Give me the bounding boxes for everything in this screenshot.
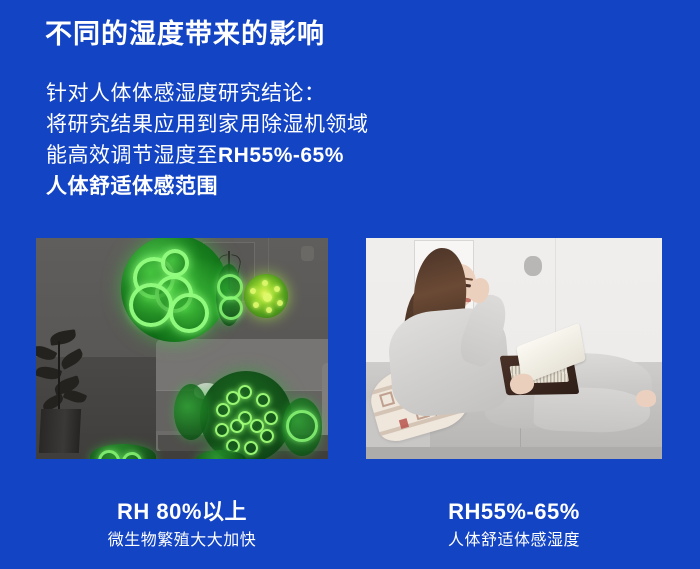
hanging-cord <box>268 238 269 272</box>
microbe-cluster-large <box>121 238 228 342</box>
slide-root: 不同的湿度带来的影响 针对人体体感湿度研究结论： 将研究结果应用到家用除湿机领域… <box>0 0 700 569</box>
microbe-dot <box>238 385 252 399</box>
microbe-sphere-small <box>244 274 288 318</box>
microbe-blob <box>161 249 189 277</box>
sofa-base-light <box>366 447 662 459</box>
microbe-ring <box>286 410 318 442</box>
photo-left-high-humidity <box>36 238 328 459</box>
microbe-dot <box>260 429 274 443</box>
plant-stem <box>58 341 60 417</box>
caption-right: RH55%-65% 人体舒适体感湿度 <box>366 498 662 551</box>
dark-room-scene <box>36 238 328 459</box>
microbe-blob <box>129 283 173 327</box>
microbe-spike <box>250 288 256 294</box>
plant-leaf <box>59 348 86 370</box>
microbe-dot <box>215 423 229 437</box>
body-line-3-text: 能高效调节湿度至 <box>46 144 218 167</box>
caption-left: RH 80%以上 微生物繁殖大大加快 <box>36 498 328 551</box>
microbe-spike <box>262 280 268 286</box>
microbe-partial-left-bottom <box>174 384 208 440</box>
microbe-dot <box>256 393 270 407</box>
body-line-4: 人体舒适体感范围 <box>46 171 369 202</box>
caption-right-subtitle: 人体舒适体感湿度 <box>366 531 662 551</box>
woman-foot <box>636 390 656 407</box>
plant-leaf <box>36 342 57 363</box>
body-line-3: 能高效调节湿度至RH55%-65% <box>46 140 369 171</box>
bright-room-scene <box>366 238 662 459</box>
microbe-spike <box>274 286 280 292</box>
potted-plant-dark <box>36 323 108 415</box>
microbe-dot <box>216 403 230 417</box>
photo-right-comfort-humidity <box>366 238 662 459</box>
caption-left-subtitle: 微生物繁殖大大加快 <box>36 531 328 551</box>
open-book <box>497 329 590 403</box>
body-line-3-highlight: RH55%-65% <box>218 144 344 167</box>
microbe-ring <box>219 296 243 320</box>
caption-right-title: RH55%-65% <box>366 498 662 526</box>
body-copy: 针对人体体感湿度研究结论： 将研究结果应用到家用除湿机领域 能高效调节湿度至RH… <box>46 78 369 202</box>
wall-speaker-knob <box>524 256 542 276</box>
plant-pot-dark <box>39 409 81 453</box>
body-line-2: 将研究结果应用到家用除湿机领域 <box>46 109 369 140</box>
microbe-blob <box>169 293 209 333</box>
page-title: 不同的湿度带来的影响 <box>45 18 325 50</box>
microbe-dot <box>230 419 244 433</box>
microbe-core <box>263 293 272 302</box>
microbe-dot <box>226 391 240 405</box>
microbe-spike <box>266 307 272 313</box>
microbe-dot <box>250 419 264 433</box>
plant-leaf <box>63 387 88 405</box>
microbe-spike <box>253 302 259 308</box>
microbe-spike <box>277 300 283 306</box>
microbe-dot <box>244 441 258 455</box>
microbe-sphere-bottom <box>200 371 292 459</box>
wall-knob-dark <box>301 246 314 261</box>
plant-leaf <box>49 329 77 345</box>
body-line-1: 针对人体体感湿度研究结论： <box>46 78 369 109</box>
caption-left-title: RH 80%以上 <box>36 498 328 526</box>
microbe-dot <box>264 411 278 425</box>
